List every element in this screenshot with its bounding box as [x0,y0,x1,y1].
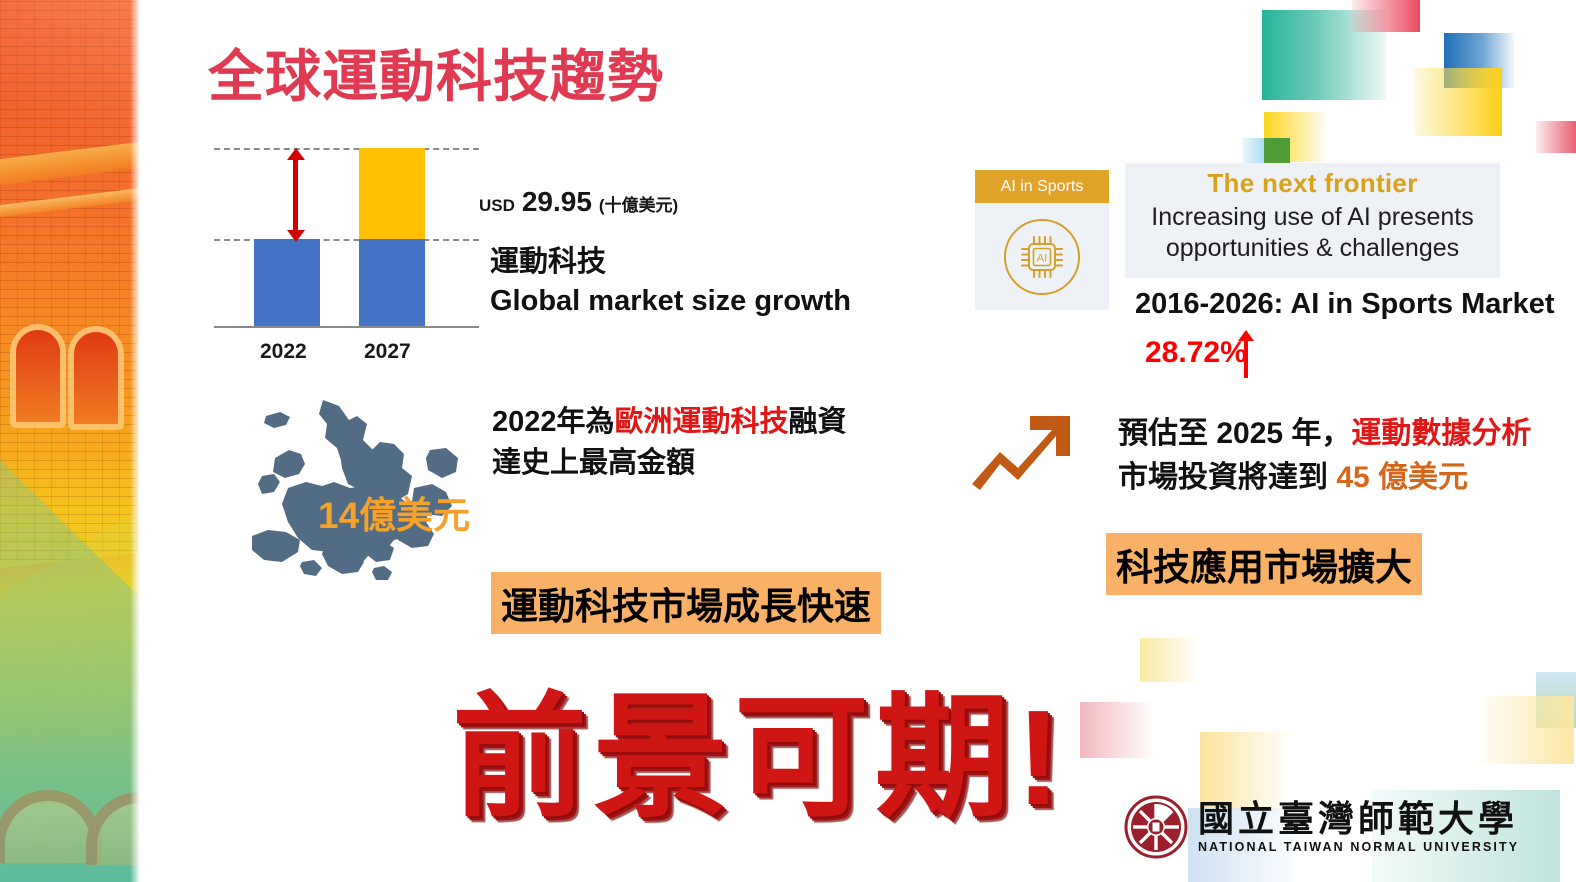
deco-block-yellow [1414,68,1502,136]
europe-funding-amount: 14億美元 [318,485,470,539]
next-frontier-title: The next frontier [1125,163,1500,199]
next-frontier-body: Increasing use of AI presents opportunit… [1125,199,1500,265]
ai-in-sports-card: AI in Sports AI [975,170,1109,310]
ai-card-label: AI in Sports [975,170,1109,203]
highlight-banner-left: 運動科技市場成長快速 [491,572,881,634]
bar-2022 [254,239,320,326]
forecast-line1-highlight: 運動數據分析 [1351,417,1531,450]
europe-funding-line2: 達史上最高金額 [492,443,847,484]
europe-line1-suffix: 融資 [789,406,847,438]
bar-2027-growth [359,148,425,239]
page-title: 全球運動科技趨勢 [208,32,664,113]
left-decorative-strip [0,0,140,882]
next-frontier-line1: Increasing use of AI presents [1125,202,1500,233]
arrow-head-down [287,230,305,242]
deco-block-pink [1536,121,1576,153]
svg-text:AI: AI [1037,252,1047,264]
slide-canvas: 全球運動科技趨勢 2022 2027 USD 29.95 (十億美元) 運動科技… [0,0,1576,882]
europe-line1-highlight: 歐洲運動科技 [615,406,789,438]
europe-funding-line1: 2022年為歐洲運動科技融資 [492,402,847,443]
forecast-line2-prefix: 市場投資將達到 [1118,461,1336,494]
usd-amount: 29.95 [522,186,592,217]
chart-reference-line-top [214,148,479,150]
market-growth-bar-chart: 2022 2027 [214,144,479,334]
ai-chip-icon: AI [975,203,1109,310]
bar-2027-base [359,239,425,326]
europe-funding-text: 2022年為歐洲運動科技融資 達史上最高金額 [492,402,847,484]
growth-up-arrow-icon [1237,330,1255,378]
deco-block-pale-yellow [1478,696,1574,764]
forecast-line1-prefix: 預估至 2025 年， [1118,417,1351,450]
strip-overlay-triangle [0,0,140,180]
ai-market-period-label: 2016-2026: AI in Sports Market [1135,288,1555,321]
ntnu-emblem-icon [1124,795,1188,859]
deco-block-pink [1352,0,1420,32]
logo-text-block: 國立臺灣師範大學 NATIONAL TAIWAN NORMAL UNIVERSI… [1198,801,1519,854]
slide-headline: 前景可期! [452,690,1067,825]
chart-value-annotation: USD 29.95 (十億美元) [479,186,678,218]
deco-block-pale-pink [1080,702,1152,758]
next-frontier-line2: opportunities & challenges [1125,233,1500,264]
chart-axis-line [214,326,479,328]
europe-line1-prefix: 2022年為 [492,406,615,438]
forecast-line2: 市場投資將達到 45 億美元 [1118,456,1531,500]
building-window [74,332,118,424]
ai-investment-forecast-text: 預估至 2025 年，運動數據分析 市場投資將達到 45 億美元 [1118,412,1531,499]
usd-unit: (十億美元) [599,196,678,215]
forecast-line1: 預估至 2025 年，運動數據分析 [1118,412,1531,456]
deco-block-green [1264,138,1290,166]
deco-block-pale-yellow [1140,638,1196,682]
building-window [16,330,60,422]
strip-fade-edge [130,0,140,882]
chart-caption: 運動科技 Global market size growth [490,243,851,320]
university-logo: 國立臺灣師範大學 NATIONAL TAIWAN NORMAL UNIVERSI… [1124,795,1519,859]
logo-name-en: NATIONAL TAIWAN NORMAL UNIVERSITY [1198,840,1519,854]
chart-caption-cn: 運動科技 [490,243,851,282]
arrow-shaft [293,156,298,234]
growth-double-arrow [285,148,305,242]
forecast-line2-amount: 45 億美元 [1336,461,1468,494]
chart-xtick-2027: 2027 [364,340,411,364]
chart-caption-en: Global market size growth [490,282,851,321]
next-frontier-box: The next frontier Increasing use of AI p… [1125,163,1500,278]
ai-growth-percentage: 28.72% [1145,336,1247,370]
usd-prefix: USD [479,196,515,215]
highlight-banner-right: 科技應用市場擴大 [1106,533,1422,595]
chart-xtick-2022: 2022 [260,340,307,364]
arrow-shaft [1244,339,1248,378]
trend-up-arrow-icon [966,410,1076,492]
logo-name-cn: 國立臺灣師範大學 [1198,801,1519,837]
